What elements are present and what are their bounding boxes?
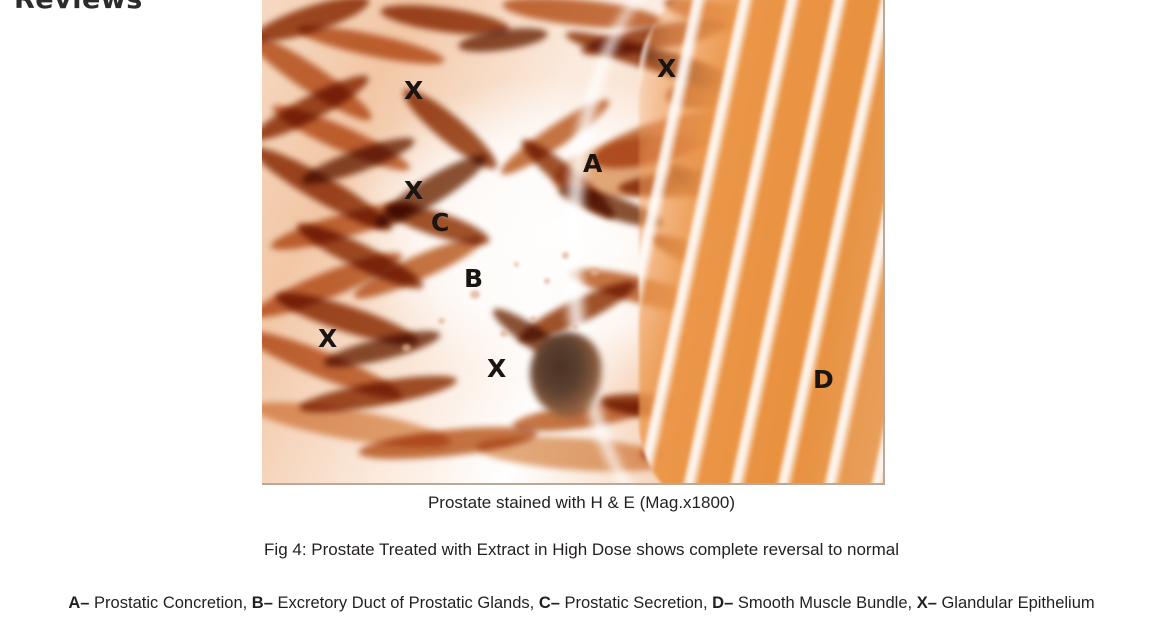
annotation-d: D [813,367,834,392]
annotation-x-bottom-mid: X [487,356,506,381]
legend-text-d: Smooth Muscle Bundle, [733,594,916,612]
legend-key-b: B– [252,594,273,612]
annotation-x-mid-left: X [404,178,423,203]
legend-text-b: Excretory Duct of Prostatic Glands, [273,594,539,612]
running-head: Reviews [14,0,143,15]
stain-caption: Prostate stained with H & E (Mag.x1800) [0,493,1163,513]
legend-key-c: C– [539,594,560,612]
figure-legend: A– Prostatic Concretion, B– Excretory Du… [0,594,1163,613]
lumen-specks [262,0,883,483]
legend-key-a: A– [68,594,89,612]
annotation-c: C [431,210,449,235]
annotation-x-bottom-left: X [318,326,337,351]
annotation-x-top-right: X [657,56,676,81]
figure-caption: Fig 4: Prostate Treated with Extract in … [0,540,1163,560]
legend-key-x: X– [917,594,937,612]
legend-text-x: Glandular Epithelium [937,594,1095,612]
legend-text-c: Prostatic Secretion, [560,594,712,612]
legend-text-a: Prostatic Concretion, [89,594,251,612]
annotation-b: B [464,266,483,291]
figure-container: X X A X C B X X D [262,0,885,485]
annotation-a: A [583,151,602,176]
prostate-micrograph-image: X X A X C B X X D [262,0,885,485]
annotation-x-top-left: X [404,78,423,103]
legend-key-d: D– [712,594,733,612]
